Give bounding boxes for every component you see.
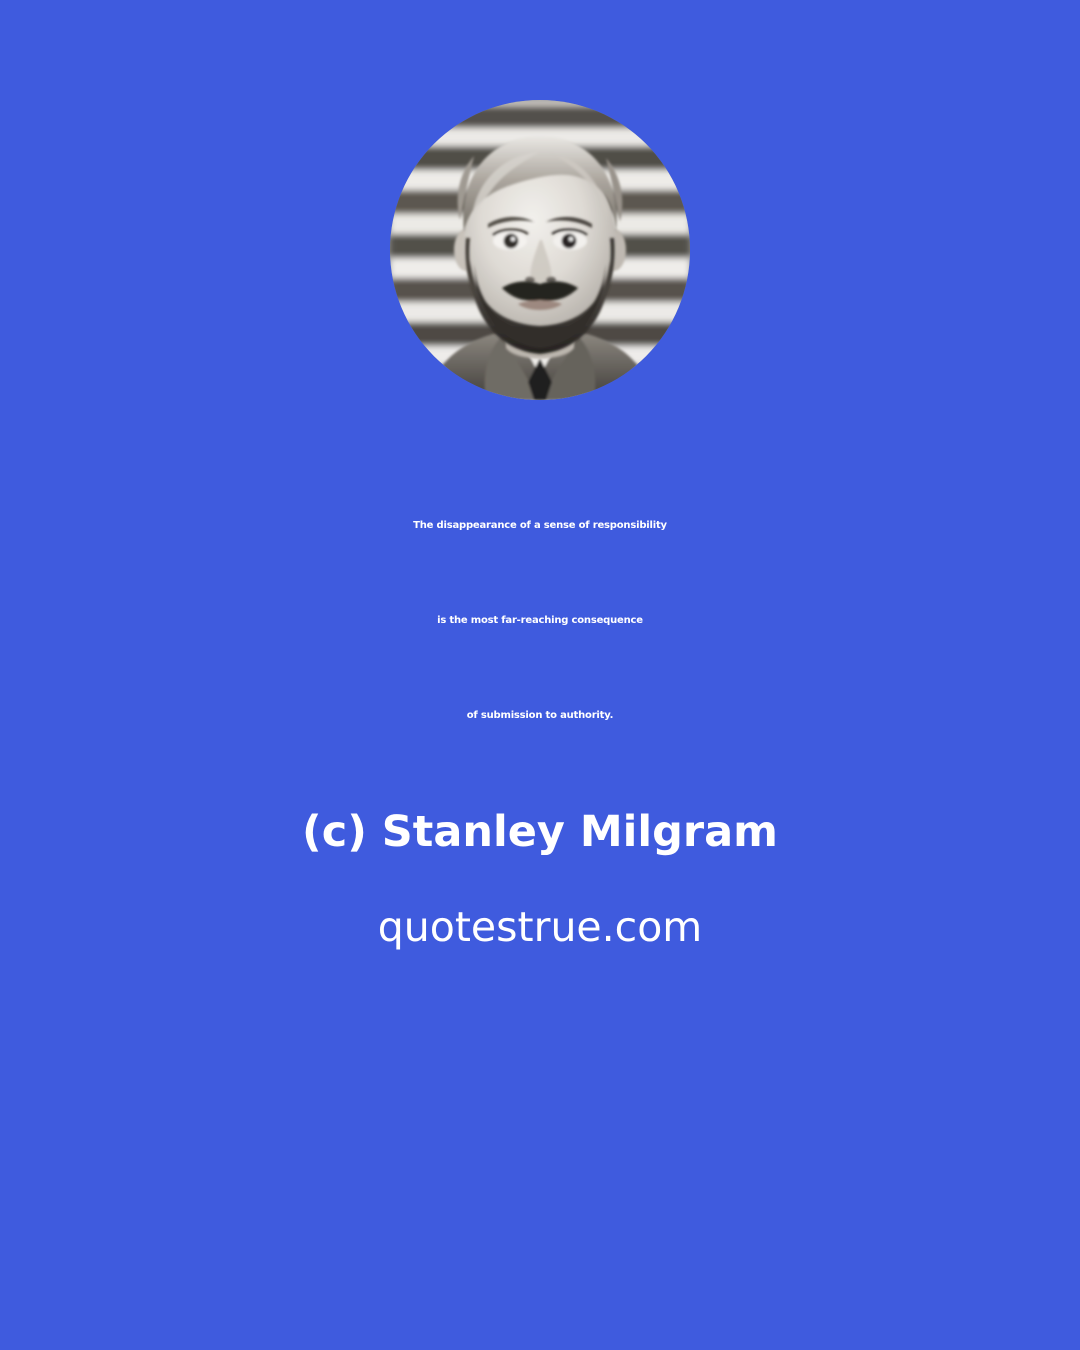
quote-poster: The disappearance of a sense of responsi…: [0, 0, 1080, 1350]
source-website: quotestrue.com: [0, 903, 1080, 951]
portrait-circle-clip: [390, 100, 690, 400]
portrait-photo-icon: [390, 100, 690, 400]
author-attribution: (c) Stanley Milgram: [0, 807, 1080, 857]
quote-line-3: of submission to authority.: [0, 710, 1080, 721]
quote-line-2: is the most far-reaching consequence: [0, 615, 1080, 626]
author-portrait: [390, 100, 690, 400]
quote-line-1: The disappearance of a sense of responsi…: [0, 520, 1080, 531]
